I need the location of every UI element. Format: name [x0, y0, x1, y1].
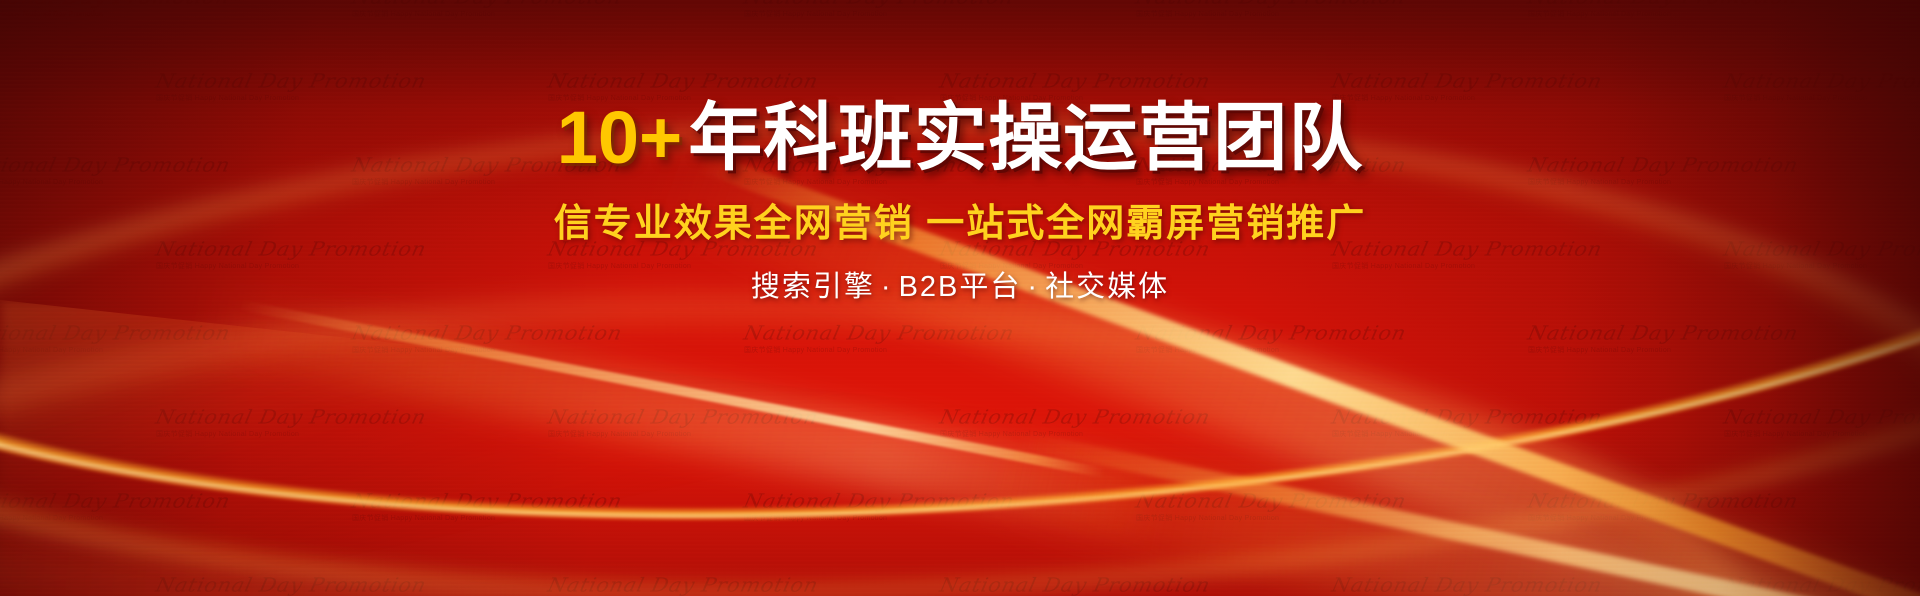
- watermark-item: National Day Promotion国庆节促销 Happy Nation…: [1724, 575, 1920, 596]
- watermark-sub-text: 国庆节促销 Happy National Day Promotion: [1136, 515, 1528, 522]
- watermark-item: National Day Promotion国庆节促销 Happy Nation…: [156, 575, 548, 596]
- watermark-sub-text: 国庆节促销 Happy National Day Promotion: [352, 515, 744, 522]
- watermark-item: National Day Promotion国庆节促销 Happy Nation…: [1724, 407, 1920, 438]
- watermark-sub-text: 国庆节促销 Happy National Day Promotion: [744, 347, 1136, 354]
- watermark-item: National Day Promotion国庆节促销 Happy Nation…: [548, 575, 940, 596]
- watermark-script-text: National Day Promotion: [1134, 491, 1530, 510]
- tagline-item-search-engine: 搜索引擎: [751, 271, 875, 303]
- watermark-item: National Day Promotion国庆节促销 Happy Nation…: [1528, 491, 1920, 522]
- watermark-sub-text: 国庆节促销 Happy National Day Promotion: [1528, 11, 1920, 18]
- watermark-sub-text: 国庆节促销 Happy National Day Promotion: [1528, 515, 1920, 522]
- watermark-script-text: National Day Promotion: [1330, 575, 1726, 594]
- watermark-script-text: National Day Promotion: [938, 407, 1334, 426]
- watermark-item: National Day Promotion国庆节促销 Happy Nation…: [744, 491, 1136, 522]
- watermark-item: National Day Promotion国庆节促销 Happy Nation…: [352, 0, 744, 18]
- watermark-script-text: National Day Promotion: [1134, 0, 1530, 7]
- watermark-item: National Day Promotion国庆节促销 Happy Nation…: [1136, 0, 1528, 18]
- tagline-item-social-media: 社交媒体: [1045, 271, 1169, 303]
- tagline: 搜索引擎·B2B平台·社交媒体: [0, 268, 1920, 306]
- watermark-sub-text: 国庆节促销 Happy National Day Promotion: [352, 347, 744, 354]
- watermark-item: National Day Promotion国庆节促销 Happy Nation…: [0, 323, 352, 354]
- watermark-script-text: National Day Promotion: [0, 0, 354, 7]
- subheadline: 信专业效果全网营销 一站式全网霸屏营销推广: [0, 200, 1920, 248]
- tagline-separator-2: ·: [1021, 271, 1045, 303]
- headline: 10+年科班实操运营团队: [0, 94, 1920, 182]
- watermark-sub-text: 国庆节促销 Happy National Day Promotion: [548, 431, 940, 438]
- watermark-script-text: National Day Promotion: [1722, 71, 1920, 90]
- watermark-sub-text: 国庆节促销 Happy National Day Promotion: [0, 515, 352, 522]
- watermark-sub-text: 国庆节促销 Happy National Day Promotion: [940, 431, 1332, 438]
- watermark-item: National Day Promotion国庆节促销 Happy Nation…: [1332, 575, 1724, 596]
- watermark-item: National Day Promotion国庆节促销 Happy Nation…: [548, 407, 940, 438]
- watermark-script-text: National Day Promotion: [1722, 407, 1920, 426]
- watermark-script-text: National Day Promotion: [350, 491, 746, 510]
- watermark-item: National Day Promotion国庆节促销 Happy Nation…: [940, 407, 1332, 438]
- watermark-item: National Day Promotion国庆节促销 Happy Nation…: [1136, 323, 1528, 354]
- watermark-item: National Day Promotion国庆节促销 Happy Nation…: [744, 323, 1136, 354]
- watermark-sub-text: 国庆节促销 Happy National Day Promotion: [1724, 431, 1920, 438]
- headline-rest: 年科班实操运营团队: [682, 96, 1363, 179]
- watermark-sub-text: 国庆节促销 Happy National Day Promotion: [744, 11, 1136, 18]
- watermark-script-text: National Day Promotion: [0, 491, 354, 510]
- watermark-sub-text: 国庆节促销 Happy National Day Promotion: [352, 11, 744, 18]
- watermark-sub-text: 国庆节促销 Happy National Day Promotion: [156, 431, 548, 438]
- tagline-item-b2b-platform: B2B平台: [899, 271, 1022, 303]
- tagline-separator-1: ·: [875, 271, 899, 303]
- watermark-script-text: National Day Promotion: [0, 323, 354, 342]
- watermark-script-text: National Day Promotion: [1526, 0, 1920, 7]
- watermark-script-text: National Day Promotion: [742, 323, 1138, 342]
- watermark-script-text: National Day Promotion: [1330, 71, 1726, 90]
- watermark-script-text: National Day Promotion: [546, 575, 942, 594]
- watermark-row: National Day Promotion国庆节促销 Happy Nation…: [0, 0, 1920, 44]
- watermark-item: National Day Promotion国庆节促销 Happy Nation…: [0, 0, 352, 18]
- watermark-script-text: National Day Promotion: [350, 323, 746, 342]
- watermark-item: National Day Promotion国庆节促销 Happy Nation…: [352, 323, 744, 354]
- headline-highlight: 10+: [557, 96, 683, 179]
- watermark-script-text: National Day Promotion: [938, 575, 1334, 594]
- watermark-item: National Day Promotion国庆节促销 Happy Nation…: [352, 491, 744, 522]
- watermark-item: National Day Promotion国庆节促销 Happy Nation…: [1332, 407, 1724, 438]
- watermark-sub-text: 国庆节促销 Happy National Day Promotion: [744, 515, 1136, 522]
- banner-copy: 10+年科班实操运营团队 信专业效果全网营销 一站式全网霸屏营销推广 搜索引擎·…: [0, 94, 1920, 306]
- watermark-item: National Day Promotion国庆节促销 Happy Nation…: [1528, 323, 1920, 354]
- watermark-script-text: National Day Promotion: [1722, 575, 1920, 594]
- watermark-script-text: National Day Promotion: [742, 0, 1138, 7]
- watermark-row: National Day Promotion国庆节促销 Happy Nation…: [0, 464, 1920, 548]
- watermark-row: National Day Promotion国庆节促销 Happy Nation…: [0, 548, 1920, 596]
- watermark-sub-text: 国庆节促销 Happy National Day Promotion: [1528, 347, 1920, 354]
- watermark-item: National Day Promotion国庆节促销 Happy Nation…: [0, 491, 352, 522]
- watermark-item: National Day Promotion国庆节促销 Happy Nation…: [1528, 0, 1920, 18]
- watermark-script-text: National Day Promotion: [938, 71, 1334, 90]
- watermark-row: National Day Promotion国庆节促销 Happy Nation…: [0, 380, 1920, 464]
- watermark-sub-text: 国庆节促销 Happy National Day Promotion: [0, 347, 352, 354]
- promotional-banner: National Day Promotion国庆节促销 Happy Nation…: [0, 0, 1920, 596]
- watermark-sub-text: 国庆节促销 Happy National Day Promotion: [1332, 431, 1724, 438]
- watermark-sub-text: 国庆节促销 Happy National Day Promotion: [1136, 11, 1528, 18]
- watermark-script-text: National Day Promotion: [742, 491, 1138, 510]
- watermark-script-text: National Day Promotion: [154, 407, 550, 426]
- watermark-sub-text: 国庆节促销 Happy National Day Promotion: [0, 11, 352, 18]
- watermark-item: National Day Promotion国庆节促销 Happy Nation…: [940, 575, 1332, 596]
- watermark-script-text: National Day Promotion: [1330, 407, 1726, 426]
- watermark-item: National Day Promotion国庆节促销 Happy Nation…: [156, 407, 548, 438]
- watermark-script-text: National Day Promotion: [1526, 491, 1920, 510]
- watermark-item: National Day Promotion国庆节促销 Happy Nation…: [744, 0, 1136, 18]
- watermark-script-text: National Day Promotion: [154, 71, 550, 90]
- watermark-script-text: National Day Promotion: [1526, 323, 1920, 342]
- watermark-item: National Day Promotion国庆节促销 Happy Nation…: [1136, 491, 1528, 522]
- watermark-script-text: National Day Promotion: [1134, 323, 1530, 342]
- watermark-script-text: National Day Promotion: [546, 407, 942, 426]
- watermark-script-text: National Day Promotion: [154, 575, 550, 594]
- watermark-script-text: National Day Promotion: [546, 71, 942, 90]
- watermark-script-text: National Day Promotion: [350, 0, 746, 7]
- watermark-sub-text: 国庆节促销 Happy National Day Promotion: [1136, 347, 1528, 354]
- watermark-row: National Day Promotion国庆节促销 Happy Nation…: [0, 296, 1920, 380]
